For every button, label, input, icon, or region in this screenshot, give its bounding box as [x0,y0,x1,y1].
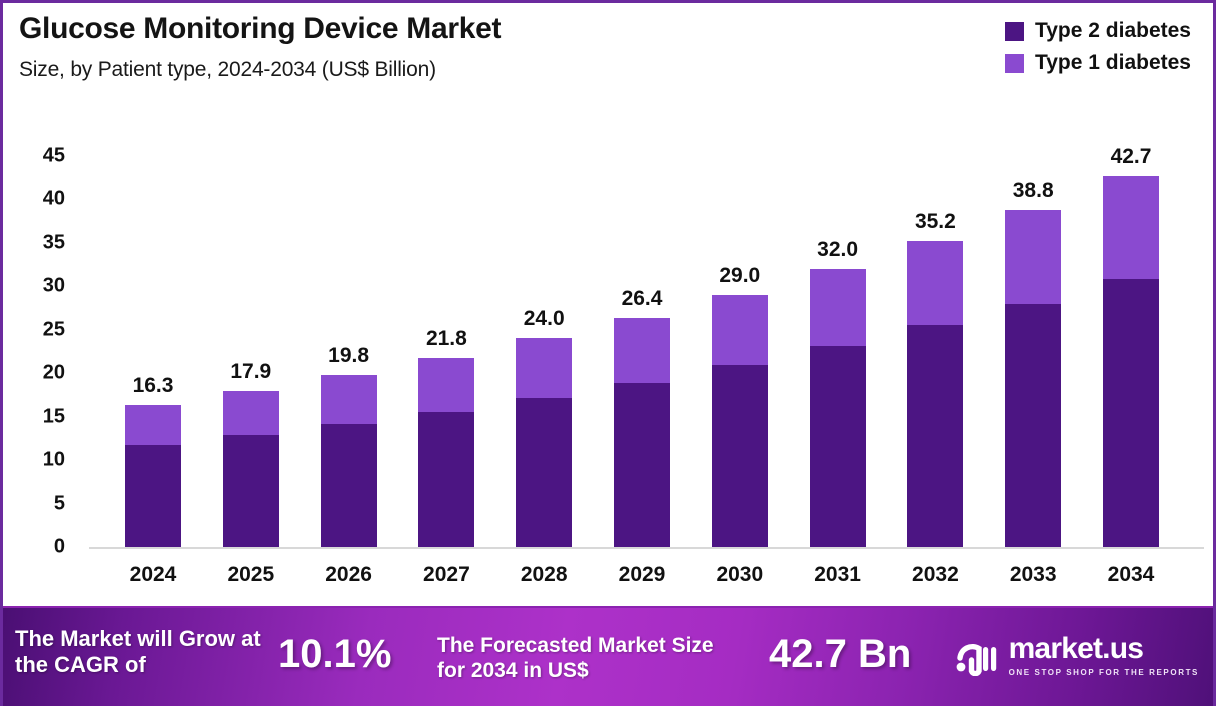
bar-total-label: 24.0 [524,307,565,331]
page-subtitle: Size, by Patient type, 2024-2034 (US$ Bi… [19,58,436,82]
bar-group[interactable]: 32.02031 [810,269,866,547]
bar-segment-type-2[interactable] [418,412,474,547]
chart-plot-area: 051015202530354045 16.3202417.9202519.82… [3,103,1216,609]
bar-segment-type-2[interactable] [1005,304,1061,547]
bar-segment-type-1[interactable] [907,241,963,325]
bar-group[interactable]: 24.02028 [516,338,572,547]
x-axis-line [89,547,1204,549]
x-axis-tick-label: 2032 [912,563,959,587]
forecast-caption: The Forecasted Market Size for 2034 in U… [437,633,737,683]
bar-total-label: 17.9 [230,360,271,384]
bar-segment-type-2[interactable] [516,398,572,547]
bar-total-label: 32.0 [817,238,858,262]
cagr-caption: The Market will Grow at the CAGR of [15,626,295,678]
bar-segment-type-2[interactable] [712,365,768,547]
x-axis-tick-label: 2024 [130,563,177,587]
bar-total-label: 19.8 [328,344,369,368]
x-axis-tick-label: 2025 [227,563,274,587]
bar-segment-type-1[interactable] [1103,176,1159,279]
bar-segment-type-2[interactable] [614,383,670,547]
x-axis-tick-label: 2034 [1108,563,1155,587]
x-axis-tick-label: 2029 [619,563,666,587]
y-axis-tick-label: 35 [9,231,65,254]
bar-segment-type-2[interactable] [125,445,181,547]
bar-segment-type-1[interactable] [614,318,670,383]
logo-name: market.us [1009,634,1199,664]
bar-segment-type-1[interactable] [712,295,768,365]
bar-total-label: 29.0 [719,264,760,288]
y-axis-tick-label: 15 [9,405,65,428]
y-axis-tick-label: 5 [9,492,65,515]
market-us-logo-icon [955,636,999,676]
market-us-logo[interactable]: market.us ONE STOP SHOP FOR THE REPORTS [955,634,1199,677]
forecast-value: 42.7 Bn [769,632,911,677]
bar-segment-type-1[interactable] [321,375,377,424]
bar-total-label: 26.4 [622,287,663,311]
bar-total-label: 42.7 [1111,145,1152,169]
x-axis-tick-label: 2031 [814,563,861,587]
legend-type-2[interactable]: Type 2 diabetes [1005,19,1191,43]
cagr-value: 10.1% [278,632,391,677]
x-axis-tick-label: 2026 [325,563,372,587]
legend-label: Type 2 diabetes [1035,19,1191,43]
x-axis-tick-label: 2033 [1010,563,1057,587]
legend-swatch-icon [1005,22,1024,41]
bar-segment-type-2[interactable] [907,325,963,547]
y-axis-tick-label: 20 [9,362,65,385]
legend-type-1[interactable]: Type 1 diabetes [1005,51,1191,75]
bar-group[interactable]: 26.42029 [614,318,670,547]
bar-group[interactable]: 38.82033 [1005,210,1061,547]
bar-segment-type-1[interactable] [223,391,279,434]
x-axis-tick-label: 2027 [423,563,470,587]
y-axis-tick-label: 25 [9,318,65,341]
x-axis-tick-label: 2030 [716,563,763,587]
bar-segment-type-2[interactable] [223,435,279,547]
bar-segment-type-2[interactable] [810,346,866,547]
bar-segment-type-1[interactable] [810,269,866,346]
bar-group[interactable]: 29.02030 [712,295,768,547]
page-title: Glucose Monitoring Device Market [19,12,501,46]
y-axis-tick-label: 30 [9,275,65,298]
y-axis-tick-label: 10 [9,449,65,472]
y-axis-tick-label: 0 [9,536,65,559]
chart-legend: Type 2 diabetesType 1 diabetes [1005,19,1191,75]
chart-infographic: Glucose Monitoring Device Market Size, b… [0,0,1216,706]
logo-tagline: ONE STOP SHOP FOR THE REPORTS [1009,668,1199,677]
bar-segment-type-1[interactable] [418,358,474,413]
bar-segment-type-2[interactable] [321,424,377,547]
bar-segment-type-1[interactable] [516,338,572,398]
bar-group[interactable]: 42.72034 [1103,176,1159,547]
bar-segment-type-2[interactable] [1103,279,1159,547]
bar-group[interactable]: 17.92025 [223,391,279,547]
bar-total-label: 21.8 [426,327,467,351]
bar-group[interactable]: 35.22032 [907,241,963,547]
bar-total-label: 35.2 [915,210,956,234]
y-axis-tick-label: 45 [9,144,65,167]
bar-group[interactable]: 19.82026 [321,375,377,547]
footer-banner: The Market will Grow at the CAGR of 10.1… [3,606,1216,706]
bar-segment-type-1[interactable] [125,405,181,445]
x-axis-tick-label: 2028 [521,563,568,587]
bar-total-label: 38.8 [1013,179,1054,203]
bar-total-label: 16.3 [133,374,174,398]
bar-group[interactable]: 21.82027 [418,358,474,547]
legend-swatch-icon [1005,54,1024,73]
y-axis-tick-label: 40 [9,188,65,211]
logo-text: market.us ONE STOP SHOP FOR THE REPORTS [1009,634,1199,677]
legend-label: Type 1 diabetes [1035,51,1191,75]
bar-group[interactable]: 16.32024 [125,405,181,547]
bar-segment-type-1[interactable] [1005,210,1061,304]
